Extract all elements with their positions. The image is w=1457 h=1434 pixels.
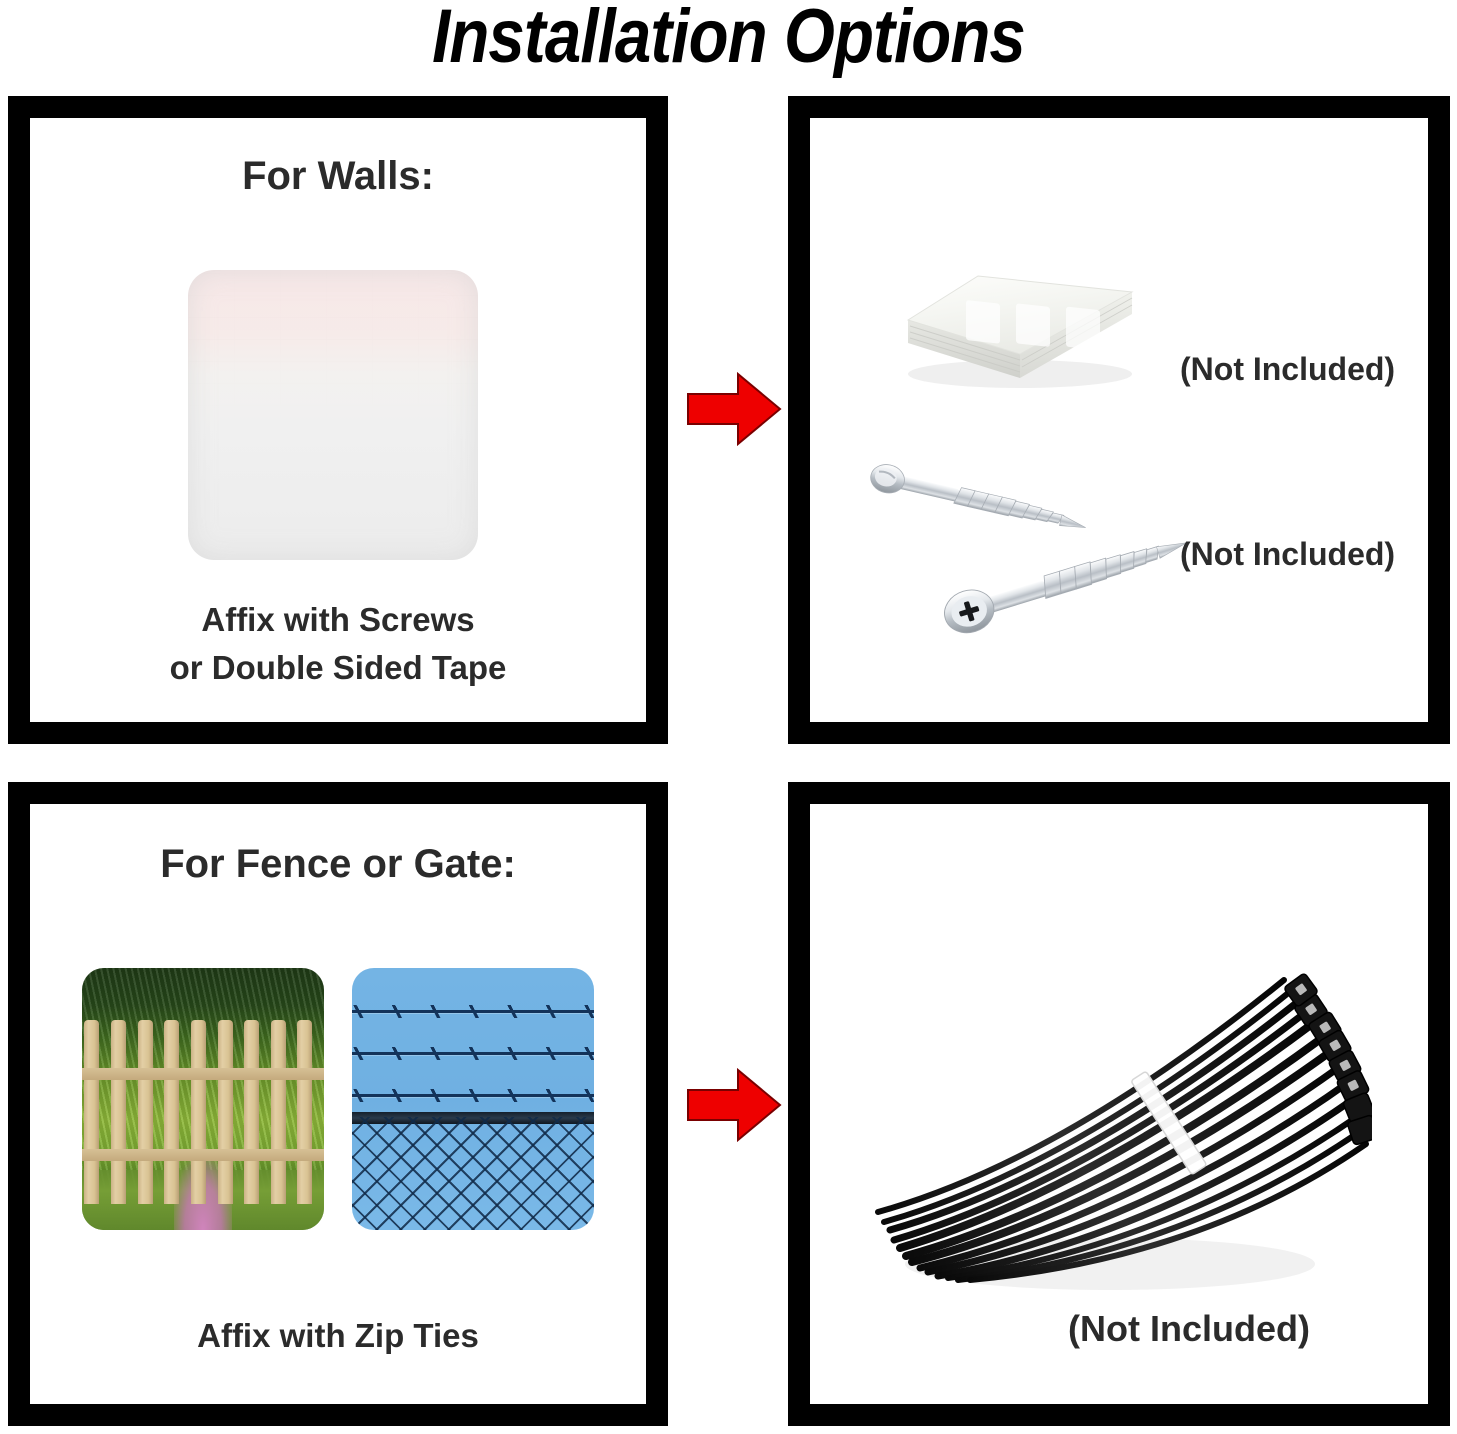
for-walls-caption: Affix with Screws or Double Sided Tape [30,596,646,692]
for-walls-heading: For Walls: [30,154,646,199]
for-fence-caption: Affix with Zip Ties [30,1312,646,1360]
barbed-wire-strand-1 [352,1010,594,1013]
fence-pickets-group [82,1020,324,1203]
red-right-arrow-icon-walls [686,372,782,446]
panel-for-fence-or-gate: For Fence or Gate: [8,782,668,1426]
zip-ties-bundle-image [860,912,1372,1332]
panel-for-walls: For Walls: Affix with Screws or Double S… [8,96,668,744]
double-sided-tape-stack-image [870,228,1150,398]
panel-fence-hardware: (Not Included) [788,782,1450,1426]
barbed-wire-strand-3 [352,1094,594,1097]
for-walls-caption-line-2: or Double Sided Tape [30,644,646,692]
page-title: Installation Options [102,0,1355,79]
chain-link-fence-photo [352,968,594,1230]
for-fence-caption-line-1: Affix with Zip Ties [30,1312,646,1360]
barbed-wire-strand-2 [352,1052,594,1055]
tape-not-included-label: (Not Included) [1180,351,1395,388]
ziptie-not-included-label: (Not Included) [1068,1308,1310,1350]
panel-fence-hardware-inner: (Not Included) [810,804,1428,1404]
panel-for-walls-inner: For Walls: Affix with Screws or Double S… [30,118,646,722]
for-fence-heading: For Fence or Gate: [30,842,646,887]
for-walls-caption-line-1: Affix with Screws [30,596,646,644]
panel-wall-hardware-inner: (Not Included) [810,118,1428,722]
wood-screws-image [846,438,1226,638]
panel-wall-hardware: (Not Included) [788,96,1450,744]
chain-link-mesh [352,1117,594,1230]
wooden-picket-fence-photo [82,968,324,1230]
screws-not-included-label: (Not Included) [1180,536,1395,573]
white-brick-wall-photo [188,270,478,560]
panel-for-fence-or-gate-inner: For Fence or Gate: [30,804,646,1404]
red-right-arrow-icon-fence [686,1068,782,1142]
